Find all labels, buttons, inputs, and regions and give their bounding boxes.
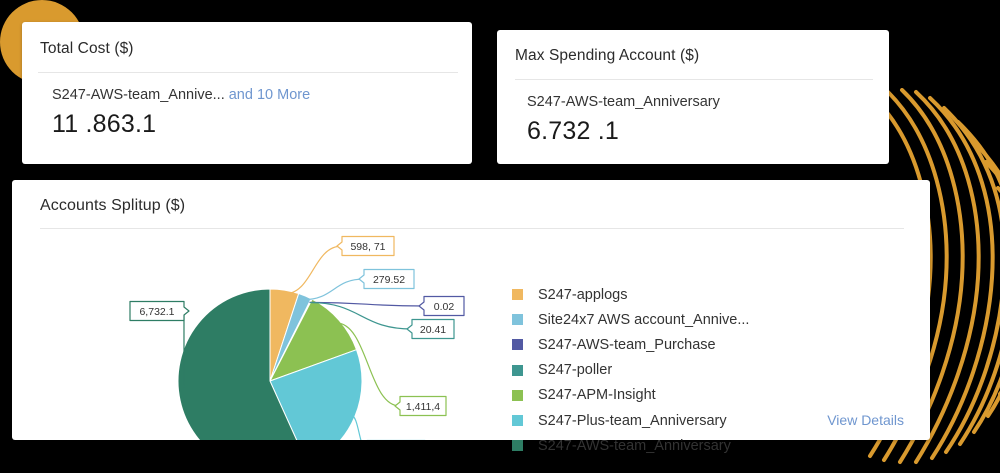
max-spending-title: Max Spending Account ($)	[497, 30, 889, 65]
dashboard-root: Total Cost ($) S247-AWS-team_Annive...an…	[0, 0, 1000, 473]
legend-swatch-icon	[512, 339, 523, 350]
view-details-link[interactable]: View Details	[827, 412, 904, 428]
legend-item[interactable]: Site24x7 AWS account_Annive...	[512, 307, 842, 332]
legend-item-label: S247-Plus-team_Anniversary	[538, 413, 727, 429]
max-spending-account-card: Max Spending Account ($) S247-AWS-team_A…	[497, 30, 889, 164]
legend-item-label: S247-AWS-team_Anniversary	[538, 438, 731, 454]
callout-value-label: 1,411,4	[406, 401, 440, 413]
legend-item[interactable]: S247-Plus-team_Anniversary	[512, 408, 842, 433]
legend-item-label: S247-applogs	[538, 287, 628, 303]
legend-item[interactable]: S247-applogs	[512, 282, 842, 307]
accounts-splitup-chart-area: 598, 71279.520.0220.411,411,42,820 ,946,…	[12, 224, 930, 440]
accounts-splitup-card: Accounts Splitup ($) 598, 71279.520.0220…	[12, 180, 930, 440]
total-cost-card: Total Cost ($) S247-AWS-team_Annive...an…	[22, 22, 472, 164]
max-spending-value: 6.732 .1	[527, 117, 889, 146]
callout-value-label: 598, 71	[350, 241, 385, 253]
legend-swatch-icon	[512, 390, 523, 401]
legend-item-label: S247-APM-Insight	[538, 387, 656, 403]
legend-item[interactable]: S247-AWS-team_Purchase	[512, 332, 842, 357]
max-spending-account-name: S247-AWS-team_Anniversary	[527, 94, 889, 111]
legend-item[interactable]: S247-poller	[512, 358, 842, 383]
and-more-link[interactable]: and 10 More	[229, 87, 310, 103]
total-cost-account-name: S247-AWS-team_Annive...	[52, 87, 225, 103]
total-cost-value: 11 .863.1	[52, 110, 472, 139]
total-cost-body: S247-AWS-team_Annive...and 10 More 11 .8…	[22, 73, 472, 139]
legend-item[interactable]: S247-AWS-team_Anniversary	[512, 433, 842, 458]
callout-leader-line	[284, 246, 342, 294]
chart-legend: S247-applogsSite24x7 AWS account_Annive.…	[512, 282, 842, 458]
callout-value-label: 20.41	[420, 324, 446, 336]
legend-item-label: S247-poller	[538, 362, 612, 378]
legend-swatch-icon	[512, 314, 523, 325]
legend-swatch-icon	[512, 365, 523, 376]
max-spending-body: S247-AWS-team_Anniversary 6.732 .1	[497, 80, 889, 146]
callout-leader-line	[304, 279, 364, 300]
legend-item-label: S247-AWS-team_Purchase	[538, 337, 716, 353]
callout-value-label: 0.02	[434, 301, 455, 313]
callout-value-label: 279.52	[373, 274, 405, 286]
legend-swatch-icon	[512, 415, 523, 426]
legend-item[interactable]: S247-APM-Insight	[512, 383, 842, 408]
total-cost-title: Total Cost ($)	[22, 22, 472, 58]
legend-item-label: Site24x7 AWS account_Annive...	[538, 312, 749, 328]
accounts-splitup-title: Accounts Splitup ($)	[12, 180, 930, 215]
pie-chart[interactable]: 598, 71279.520.0220.411,411,42,820 ,946,…	[12, 224, 512, 440]
legend-swatch-icon	[512, 440, 523, 451]
callout-value-label: 6,732.1	[139, 306, 174, 318]
legend-swatch-icon	[512, 289, 523, 300]
total-cost-account-line: S247-AWS-team_Annive...and 10 More	[52, 87, 472, 104]
